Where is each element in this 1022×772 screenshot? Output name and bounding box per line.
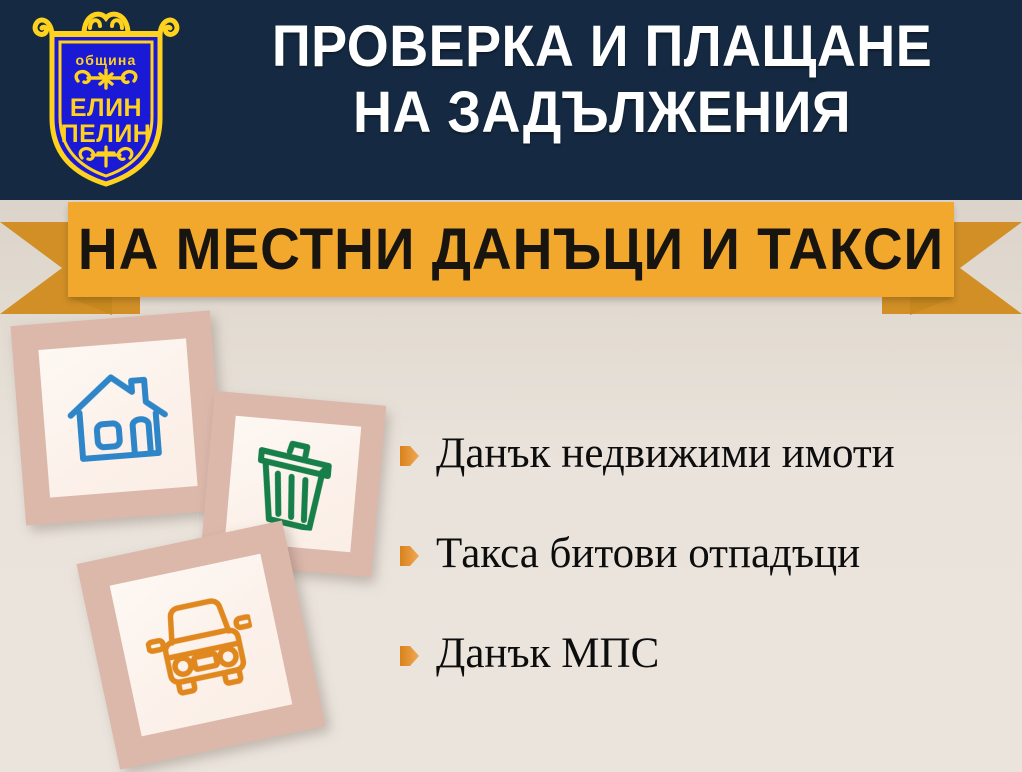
arrow-bullet-icon [400,545,419,567]
arrow-bullet-icon [400,445,419,467]
ribbon-band: НА МЕСТНИ ДАНЪЦИ И ТАКСИ [68,202,954,297]
list-item-label: Данък МПС [436,630,659,678]
header-bar: община ЕЛИН ПЕЛИН [0,0,1022,200]
stamp-card-car [76,520,325,769]
list-item[interactable]: Данък МПС [400,630,1010,678]
list-item[interactable]: Такса битови отпадъци [400,530,1010,578]
car-front-icon [139,589,264,701]
list-item-label: Данък недвижими имоти [436,430,895,478]
tax-type-list: Данък недвижими имоти Такса битови отпад… [400,430,1010,730]
ribbon-banner: НА МЕСТНИ ДАНЪЦИ И ТАКСИ [0,195,1022,320]
poster-canvas: община ЕЛИН ПЕЛИН [0,0,1022,772]
trash-bin-icon [246,435,340,532]
stamp-paper-car [110,554,293,737]
municipality-crest: община ЕЛИН ПЕЛИН [26,8,186,192]
house-icon [62,366,173,470]
crest-line-2: ЕЛИН [70,94,142,122]
arrow-bullet-icon [400,645,419,667]
list-item[interactable]: Данък недвижими имоти [400,430,1010,478]
crest-line-1: община [75,52,136,68]
page-title: ПРОВЕРКА И ПЛАЩАНЕ НА ЗАДЪЛЖЕНИЯ [224,14,979,146]
stamp-paper-house [38,338,197,497]
list-item-label: Такса битови отпадъци [436,530,860,578]
stamp-card-house [10,310,225,525]
ribbon-text: НА МЕСТНИ ДАНЪЦИ И ТАКСИ [90,202,932,297]
crest-line-3: ПЕЛИН [61,120,152,148]
